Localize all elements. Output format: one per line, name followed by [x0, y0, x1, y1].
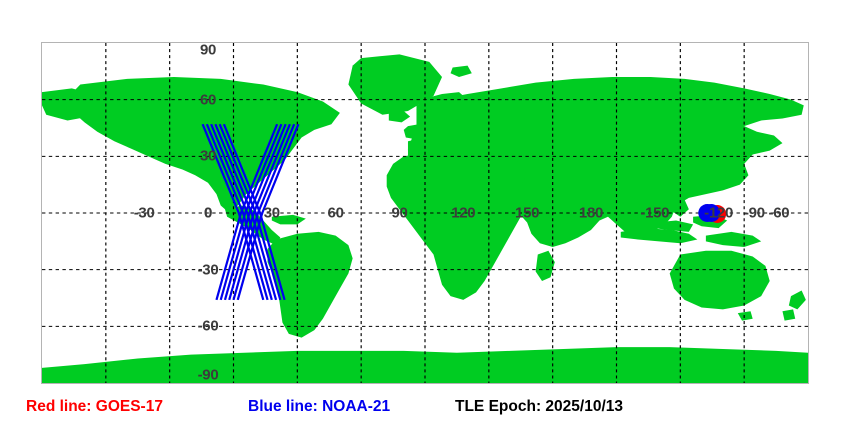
lon-tick--120: -120: [704, 206, 733, 221]
lon-tick-150: 150: [515, 206, 539, 221]
satellite-marker-layer: [42, 43, 808, 383]
lat-tick-90: 90: [200, 42, 216, 57]
lon-tick--150: -150: [640, 206, 669, 221]
lon-tick--30: -30: [134, 206, 155, 221]
legend-blue-line-noaa21: Blue line: NOAA-21: [248, 399, 390, 415]
lon-tick-180: 180: [579, 206, 603, 221]
tle-epoch-label: TLE Epoch: 2025/10/13: [455, 399, 623, 415]
lat-tick-60: 60: [200, 92, 216, 107]
satellite-groundtrack-page: -30 0 30 60 90 120 150 180 -150 -120 -90…: [0, 0, 850, 425]
lon-tick--60: -60: [769, 206, 790, 221]
lat-tick--90: -90: [198, 367, 219, 382]
lat-tick--30: -30: [198, 262, 219, 277]
lon-tick--90: -90: [744, 206, 765, 221]
lon-tick-90: 90: [391, 206, 407, 221]
lon-tick-120: 120: [451, 206, 475, 221]
lat-tick-30: 30: [200, 149, 216, 164]
legend-caption-bar: Red line: GOES-17 Blue line: NOAA-21 TLE…: [0, 396, 850, 420]
lat-tick-0: 0: [204, 206, 212, 221]
lon-tick-60: 60: [328, 206, 344, 221]
lon-tick-30: 30: [264, 206, 280, 221]
legend-red-line-goes17: Red line: GOES-17: [26, 399, 163, 415]
lat-tick--60: -60: [198, 319, 219, 334]
world-map-plot: -30 0 30 60 90 120 150 180 -150 -120 -90…: [41, 42, 809, 384]
